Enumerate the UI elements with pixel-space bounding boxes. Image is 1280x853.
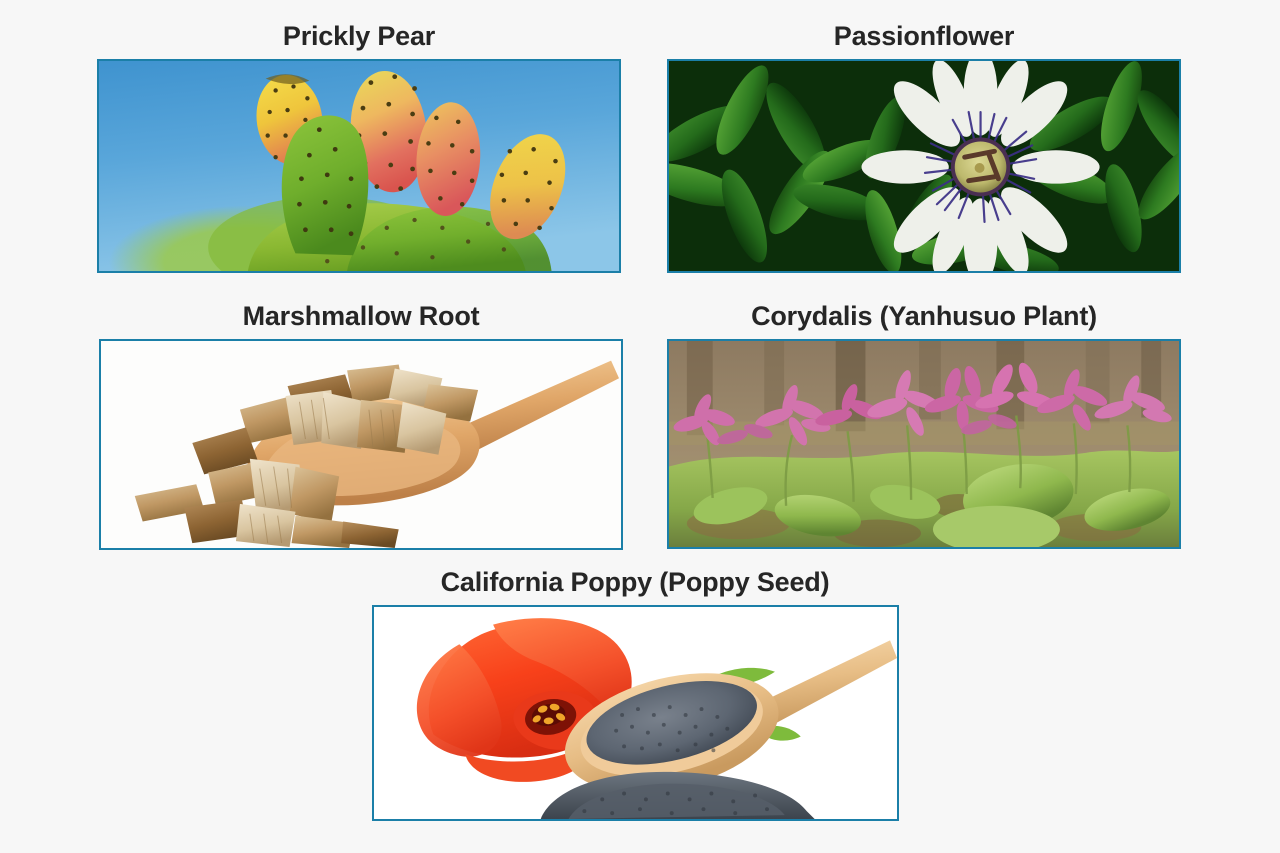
corydalis-illustration (669, 341, 1179, 547)
grid-item-prickly-pear: Prickly Pear (96, 22, 622, 273)
item-title-passionflower: Passionflower (834, 22, 1014, 50)
grid-item-california-poppy: California Poppy (Poppy Seed) (371, 568, 899, 821)
photo-corydalis (667, 339, 1181, 549)
item-title-california-poppy: California Poppy (Poppy Seed) (441, 568, 830, 596)
grid-item-corydalis: Corydalis (Yanhusuo Plant) (666, 302, 1182, 549)
prickly-pear-illustration (99, 61, 619, 271)
photo-marshmallow-root (99, 339, 623, 550)
photo-prickly-pear (97, 59, 621, 273)
marshmallow-root-illustration (101, 341, 621, 548)
grid-item-marshmallow-root: Marshmallow Root (98, 302, 624, 550)
photo-passionflower (667, 59, 1181, 273)
item-title-prickly-pear: Prickly Pear (283, 22, 435, 50)
photo-california-poppy (372, 605, 899, 821)
image-grid-page: Prickly Pear (0, 0, 1280, 853)
grid-item-passionflower: Passionflower (666, 22, 1182, 273)
item-title-corydalis: Corydalis (Yanhusuo Plant) (751, 302, 1097, 330)
california-poppy-illustration (374, 607, 897, 819)
item-title-marshmallow-root: Marshmallow Root (243, 302, 480, 330)
passionflower-illustration (669, 61, 1179, 271)
